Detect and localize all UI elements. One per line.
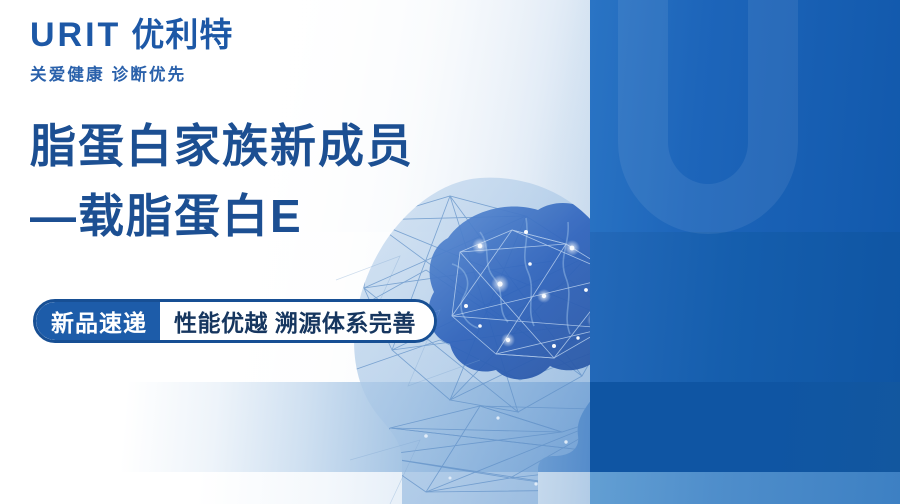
brand-logo: URIT 优利特 关爱健康 诊断优先 [30, 18, 270, 85]
logo-wordmark: URIT 优利特 [30, 18, 270, 52]
headline-line-1: 脂蛋白家族新成员 [30, 112, 414, 182]
badge-tag-label: 新品速递 [36, 302, 160, 340]
logo-chinese-text: 优利特 [131, 18, 233, 51]
status-badge: 新品速递 性能优越 溯源体系完善 [33, 299, 437, 343]
badge-description-label: 性能优越 溯源体系完善 [160, 302, 434, 340]
panel-segment-1 [590, 0, 900, 232]
panel-segment-4 [590, 472, 900, 504]
panel-segment-3 [590, 382, 900, 472]
panel-segment-2 [590, 232, 900, 382]
right-blue-panel [590, 0, 900, 504]
headline-line-2: —载脂蛋白E [30, 182, 414, 252]
logo-tagline: 关爱健康 诊断优先 [30, 61, 270, 85]
promo-banner: URIT 优利特 关爱健康 诊断优先 脂蛋白家族新成员 —载脂蛋白E 新品速递 … [0, 0, 900, 504]
logo-latin-text: URIT [30, 18, 121, 52]
page-title: 脂蛋白家族新成员 —载脂蛋白E [30, 112, 414, 252]
